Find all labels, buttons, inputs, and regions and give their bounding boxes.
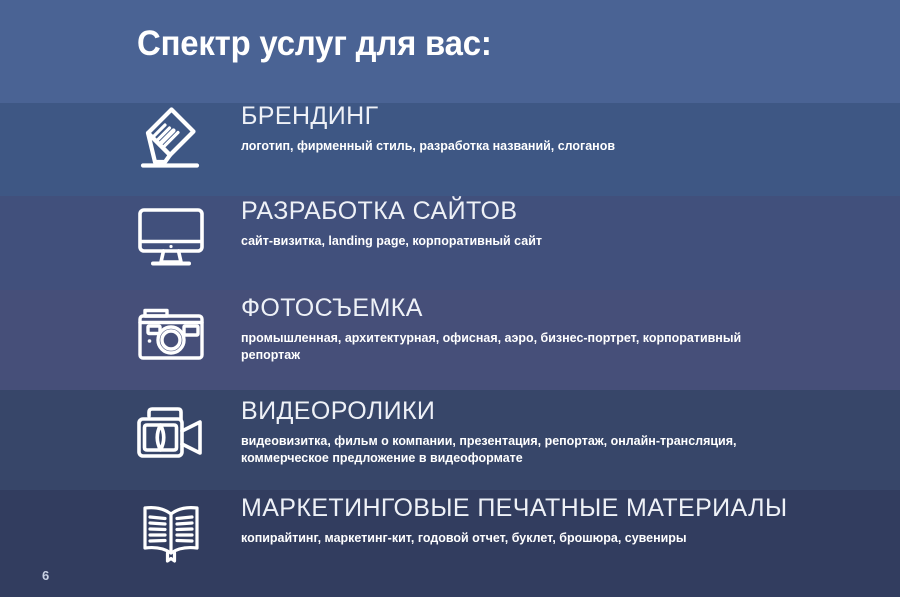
service-subtitle: видеовизитка, фильм о компании, презента… xyxy=(241,433,764,466)
open-book-icon xyxy=(128,497,214,569)
service-subtitle: сайт-визитка, landing page, корпоративны… xyxy=(241,233,542,249)
camera-icon xyxy=(128,298,214,370)
services-slide: Спектр услуг для вас: БРЕНДИНГ логотип, … xyxy=(0,0,900,597)
service-subtitle: копирайтинг, маркетинг-кит, годовой отче… xyxy=(241,530,766,546)
service-text-print: МАРКЕТИНГОВЫЕ ПЕЧАТНЫЕ МАТЕРИАЛЫ копирай… xyxy=(241,495,788,547)
service-heading: БРЕНДИНГ xyxy=(241,103,631,129)
service-text-branding: БРЕНДИНГ логотип, фирменный стиль, разра… xyxy=(241,103,631,155)
service-subtitle: логотип, фирменный стиль, разработка наз… xyxy=(241,138,615,154)
eraser-icon xyxy=(128,101,214,173)
service-heading: МАРКЕТИНГОВЫЕ ПЕЧАТНЫЕ МАТЕРИАЛЫ xyxy=(241,495,788,521)
service-text-photo: ФОТОСЪЕМКА промышленная, архитектурная, … xyxy=(241,295,786,363)
video-camera-icon xyxy=(128,398,214,470)
service-text-websites: РАЗРАБОТКА САЙТОВ сайт-визитка, landing … xyxy=(241,198,555,250)
service-subtitle: промышленная, архитектурная, офисная, аэ… xyxy=(241,330,764,363)
service-heading: РАЗРАБОТКА САЙТОВ xyxy=(241,198,555,224)
service-heading: ФОТОСЪЕМКА xyxy=(241,295,786,321)
monitor-icon xyxy=(128,201,214,273)
page-title: Спектр услуг для вас: xyxy=(137,24,492,64)
service-heading: ВИДЕОРОЛИКИ xyxy=(241,398,786,424)
service-text-video: ВИДЕОРОЛИКИ видеовизитка, фильм о компан… xyxy=(241,398,786,466)
page-number: 6 xyxy=(42,568,49,583)
